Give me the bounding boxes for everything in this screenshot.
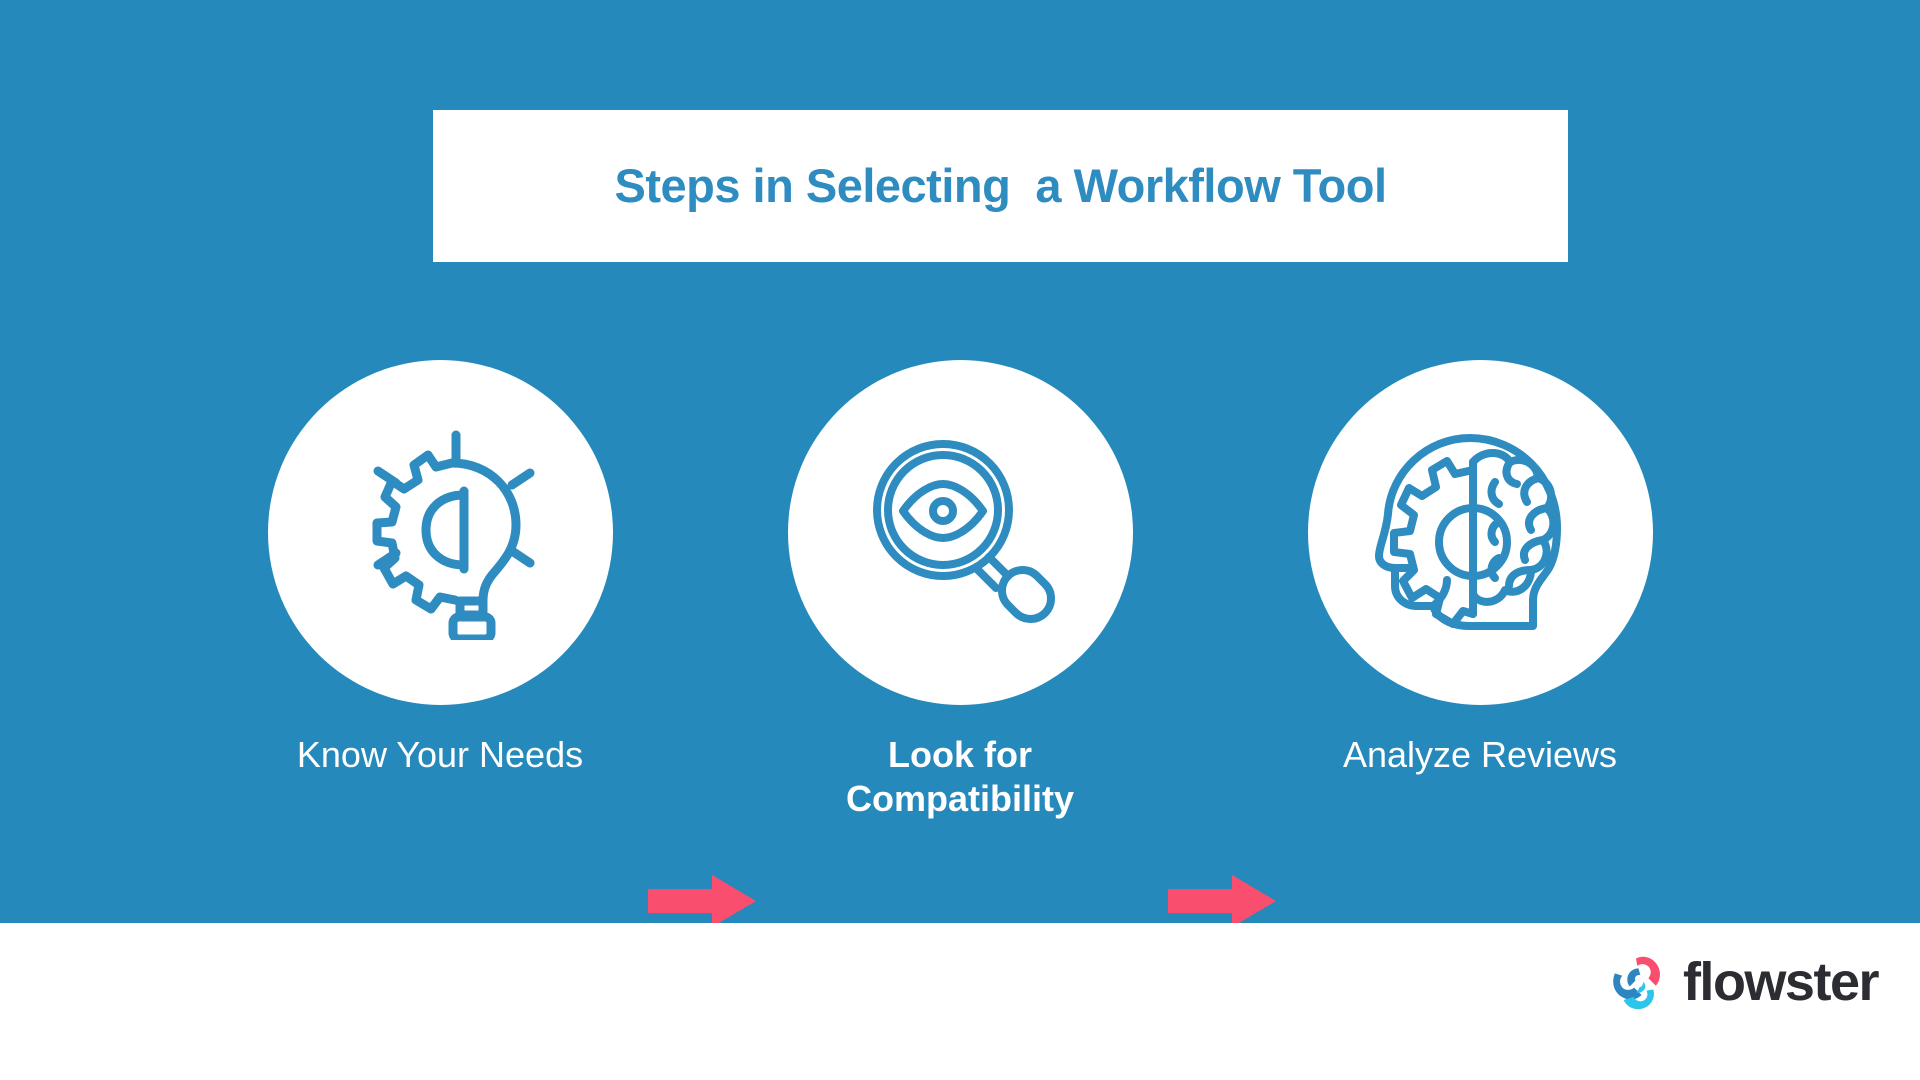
step-analyze-reviews: Analyze Reviews xyxy=(1270,360,1690,777)
step-label: Look for Compatibility xyxy=(750,733,1170,821)
brand-logo[interactable]: flowster xyxy=(1605,951,1878,1013)
head-brain-gear-icon xyxy=(1375,430,1585,635)
arrow-right-icon-2 xyxy=(1168,875,1276,927)
step-label: Know Your Needs xyxy=(230,733,650,777)
steps-row: Know Your Needs xyxy=(0,360,1920,880)
stage-background: Steps in Selecting a Workflow Tool xyxy=(0,0,1920,923)
step-look-for-compatibility: Look for Compatibility xyxy=(750,360,1170,821)
step-icon-circle xyxy=(1308,360,1653,705)
arrow-right-icon-1 xyxy=(648,875,756,927)
step-know-your-needs: Know Your Needs xyxy=(230,360,650,777)
step-label: Analyze Reviews xyxy=(1270,733,1690,777)
step-icon-circle xyxy=(788,360,1133,705)
logo-wordmark: flowster xyxy=(1683,955,1878,1009)
flowster-pinwheel-icon xyxy=(1605,951,1667,1013)
magnifier-eye-icon xyxy=(865,438,1055,628)
lightbulb-gear-icon xyxy=(340,425,540,640)
title-banner: Steps in Selecting a Workflow Tool xyxy=(433,110,1568,262)
page-title: Steps in Selecting a Workflow Tool xyxy=(614,160,1386,212)
infographic-canvas: Steps in Selecting a Workflow Tool xyxy=(0,0,1920,1080)
footer-bar: flowster xyxy=(0,923,1920,1080)
step-icon-circle xyxy=(268,360,613,705)
